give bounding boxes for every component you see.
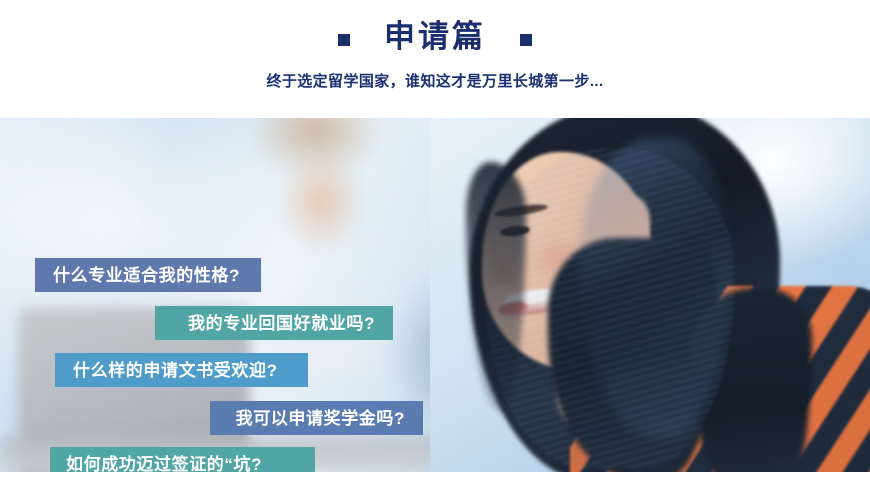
question-bubble[interactable]: 什么样的申请文书受欢迎? bbox=[55, 353, 308, 387]
title-row: 申请篇 bbox=[0, 20, 870, 54]
banner-header: 申请篇 终于选定留学国家，谁知这才是万里长城第一步... bbox=[0, 0, 870, 118]
page-title: 申请篇 bbox=[384, 20, 486, 54]
page-subtitle: 终于选定留学国家，谁知这才是万里长城第一步... bbox=[0, 70, 870, 91]
question-bubble[interactable]: 什么专业适合我的性格? bbox=[35, 258, 261, 292]
promo-banner: 申请篇 终于选定留学国家，谁知这才是万里长城第一步... bbox=[0, 0, 870, 492]
question-bubble[interactable]: 如何成功迈过签证的“坑? bbox=[50, 447, 315, 472]
hero-photo: 什么专业适合我的性格?我的专业回国好就业吗?什么样的申请文书受欢迎?我可以申请奖… bbox=[0, 118, 870, 472]
question-bubble[interactable]: 我可以申请奖学金吗? bbox=[210, 401, 423, 435]
student-subject bbox=[430, 118, 870, 472]
question-bubble[interactable]: 我的专业回国好就业吗? bbox=[155, 306, 393, 340]
square-bullet-left-icon bbox=[338, 34, 350, 46]
square-bullet-right-icon bbox=[520, 34, 532, 46]
